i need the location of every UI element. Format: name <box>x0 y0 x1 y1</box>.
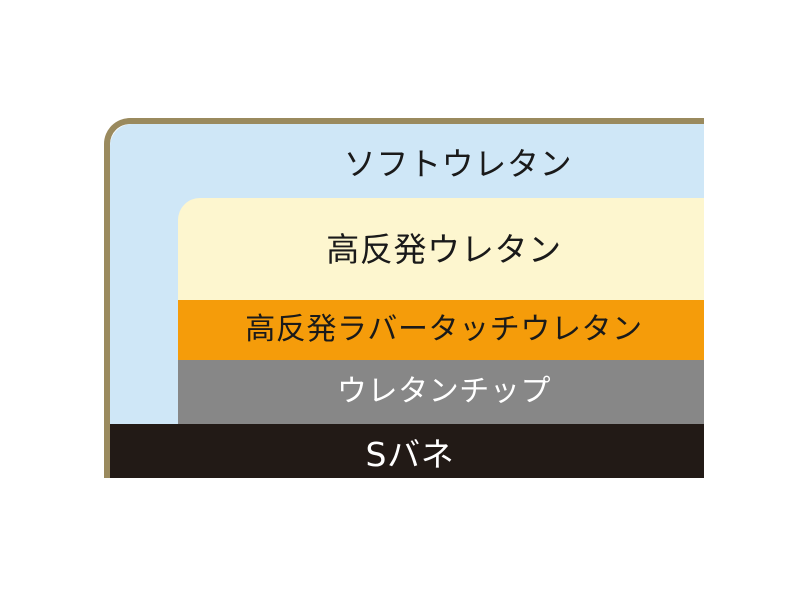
layer-urethane-chip: ウレタンチップ <box>178 360 704 424</box>
layer-s-spring: Sバネ <box>110 424 704 478</box>
layer-high-resilience-urethane-label: 高反発ウレタン <box>326 233 562 266</box>
layer-urethane-chip-label: ウレタンチップ <box>337 377 551 407</box>
layer-s-spring-label: Sバネ <box>366 438 455 471</box>
layer-high-resilience-urethane: 高反発ウレタン <box>178 198 704 300</box>
layer-rubber-touch-urethane: 高反発ラバータッチウレタン <box>178 300 704 360</box>
layer-rubber-touch-urethane-label: 高反発ラバータッチウレタン <box>245 315 643 345</box>
diagram-canvas: ソフトウレタン 高反発ウレタン 高反発ラバータッチウレタン ウレタンチップ Sバ… <box>0 0 800 600</box>
mattress-cross-section-diagram: ソフトウレタン 高反発ウレタン 高反発ラバータッチウレタン ウレタンチップ Sバ… <box>104 118 704 478</box>
layer-soft-urethane-label: ソフトウレタン <box>110 148 704 180</box>
